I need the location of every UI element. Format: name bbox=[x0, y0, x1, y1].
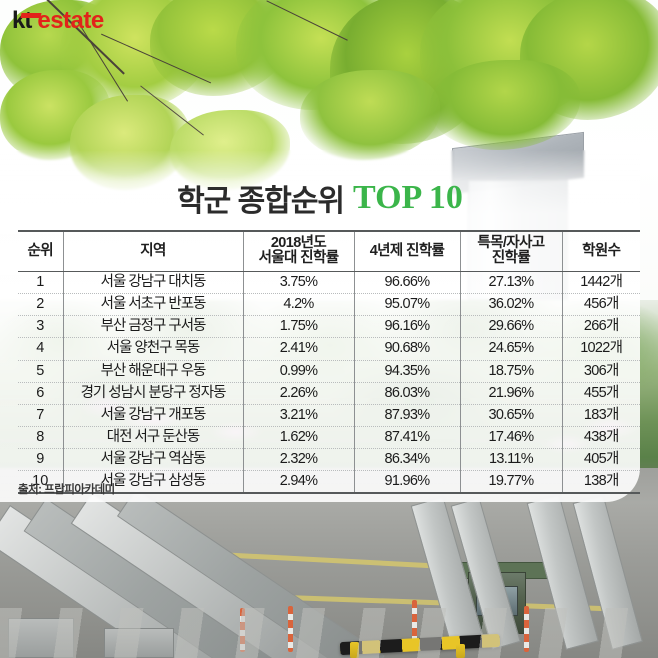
crosswalk-markings bbox=[0, 608, 658, 658]
column-header-special-rate: 특목/자사고 진학률 bbox=[460, 231, 562, 272]
column-header-4year-rate: 4년제 진학률 bbox=[354, 231, 460, 272]
table-row: 7서울 강남구 개포동3.21%87.93%30.65%183개 bbox=[18, 404, 640, 426]
snu-rate-cell: 4.2% bbox=[243, 294, 354, 316]
snu-rate-cell: 2.32% bbox=[243, 449, 354, 471]
table-row: 1서울 강남구 대치동3.75%96.66%27.13%1442개 bbox=[18, 272, 640, 294]
academy-count-cell: 266개 bbox=[562, 316, 640, 338]
rank-cell: 4 bbox=[18, 338, 63, 360]
special-rate-cell: 24.65% bbox=[460, 338, 562, 360]
univ4-rate-cell: 94.35% bbox=[354, 360, 460, 382]
column-header-academy-count: 학원수 bbox=[562, 231, 640, 272]
region-cell: 서울 양천구 목동 bbox=[63, 338, 243, 360]
column-header-special-rate-line2: 진학률 bbox=[463, 251, 560, 266]
univ4-rate-cell: 95.07% bbox=[354, 294, 460, 316]
column-header-snu-rate-line2: 서울대 진학률 bbox=[246, 251, 352, 266]
region-cell: 서울 강남구 개포동 bbox=[63, 404, 243, 426]
rankings-table: 순위 지역 2018년도 서울대 진학률 4년제 진학률 특목/자사고 진학률 … bbox=[18, 230, 640, 494]
table-row: 2서울 서초구 반포동4.2%95.07%36.02%456개 bbox=[18, 294, 640, 316]
special-rate-cell: 13.11% bbox=[460, 449, 562, 471]
rank-cell: 2 bbox=[18, 294, 63, 316]
region-cell: 부산 해운대구 우동 bbox=[63, 360, 243, 382]
column-header-snu-rate-line1: 2018년도 bbox=[246, 236, 352, 251]
rank-cell: 3 bbox=[18, 316, 63, 338]
academy-count-cell: 138개 bbox=[562, 471, 640, 494]
academy-count-cell: 456개 bbox=[562, 294, 640, 316]
table-row: 6경기 성남시 분당구 정자동2.26%86.03%21.96%455개 bbox=[18, 382, 640, 404]
snu-rate-cell: 3.21% bbox=[243, 404, 354, 426]
region-cell: 서울 강남구 대치동 bbox=[63, 272, 243, 294]
table-row: 8대전 서구 둔산동1.62%87.41%17.46%438개 bbox=[18, 426, 640, 448]
table-header: 순위 지역 2018년도 서울대 진학률 4년제 진학률 특목/자사고 진학률 … bbox=[18, 231, 640, 272]
rank-cell: 6 bbox=[18, 382, 63, 404]
table-row: 5부산 해운대구 우동0.99%94.35%18.75%306개 bbox=[18, 360, 640, 382]
special-rate-cell: 30.65% bbox=[460, 404, 562, 426]
region-cell: 대전 서구 둔산동 bbox=[63, 426, 243, 448]
rank-cell: 5 bbox=[18, 360, 63, 382]
column-header-snu-rate: 2018년도 서울대 진학률 bbox=[243, 231, 354, 272]
special-rate-cell: 17.46% bbox=[460, 426, 562, 448]
table-row: 9서울 강남구 역삼동2.32%86.34%13.11%405개 bbox=[18, 449, 640, 471]
special-rate-cell: 29.66% bbox=[460, 316, 562, 338]
rank-cell: 9 bbox=[18, 449, 63, 471]
special-rate-cell: 19.77% bbox=[460, 471, 562, 494]
table-row: 3부산 금정구 구서동1.75%96.16%29.66%266개 bbox=[18, 316, 640, 338]
academy-count-cell: 438개 bbox=[562, 426, 640, 448]
academy-count-cell: 1022개 bbox=[562, 338, 640, 360]
kt-estate-logo[interactable]: kt estate bbox=[12, 8, 104, 34]
univ4-rate-cell: 90.68% bbox=[354, 338, 460, 360]
univ4-rate-cell: 86.03% bbox=[354, 382, 460, 404]
snu-rate-cell: 0.99% bbox=[243, 360, 354, 382]
region-cell: 서울 서초구 반포동 bbox=[63, 294, 243, 316]
snu-rate-cell: 1.62% bbox=[243, 426, 354, 448]
univ4-rate-cell: 87.93% bbox=[354, 404, 460, 426]
academy-count-cell: 306개 bbox=[562, 360, 640, 382]
academy-count-cell: 1442개 bbox=[562, 272, 640, 294]
logo-kt-text: kt bbox=[12, 9, 31, 33]
special-rate-cell: 21.96% bbox=[460, 382, 562, 404]
rankings-table-container: 순위 지역 2018년도 서울대 진학률 4년제 진학률 특목/자사고 진학률 … bbox=[18, 230, 640, 494]
column-header-region: 지역 bbox=[63, 231, 243, 272]
rank-cell: 7 bbox=[18, 404, 63, 426]
region-cell: 경기 성남시 분당구 정자동 bbox=[63, 382, 243, 404]
column-header-rank: 순위 bbox=[18, 231, 63, 272]
univ4-rate-cell: 96.66% bbox=[354, 272, 460, 294]
source-attribution: 출처: 프랍피아카데미 bbox=[18, 481, 115, 497]
table-body: 1서울 강남구 대치동3.75%96.66%27.13%1442개2서울 서초구… bbox=[18, 272, 640, 494]
snu-rate-cell: 2.41% bbox=[243, 338, 354, 360]
rank-cell: 8 bbox=[18, 426, 63, 448]
column-header-special-rate-line1: 특목/자사고 bbox=[463, 236, 560, 251]
special-rate-cell: 36.02% bbox=[460, 294, 562, 316]
rank-cell: 1 bbox=[18, 272, 63, 294]
page-title: 학군 종합순위TOP 10 bbox=[0, 176, 640, 220]
special-rate-cell: 18.75% bbox=[460, 360, 562, 382]
table-row: 4서울 양천구 목동2.41%90.68%24.65%1022개 bbox=[18, 338, 640, 360]
logo-estate-text: estate bbox=[37, 9, 103, 33]
univ4-rate-cell: 86.34% bbox=[354, 449, 460, 471]
snu-rate-cell: 2.26% bbox=[243, 382, 354, 404]
snu-rate-cell: 3.75% bbox=[243, 272, 354, 294]
univ4-rate-cell: 96.16% bbox=[354, 316, 460, 338]
title-top10-text: TOP 10 bbox=[353, 179, 463, 216]
region-cell: 부산 금정구 구서동 bbox=[63, 316, 243, 338]
title-korean-text: 학군 종합순위 bbox=[177, 185, 344, 218]
univ4-rate-cell: 91.96% bbox=[354, 471, 460, 494]
academy-count-cell: 183개 bbox=[562, 404, 640, 426]
snu-rate-cell: 1.75% bbox=[243, 316, 354, 338]
academy-count-cell: 405개 bbox=[562, 449, 640, 471]
univ4-rate-cell: 87.41% bbox=[354, 426, 460, 448]
region-cell: 서울 강남구 역삼동 bbox=[63, 449, 243, 471]
snu-rate-cell: 2.94% bbox=[243, 471, 354, 494]
academy-count-cell: 455개 bbox=[562, 382, 640, 404]
table-header-row: 순위 지역 2018년도 서울대 진학률 4년제 진학률 특목/자사고 진학률 … bbox=[18, 231, 640, 272]
special-rate-cell: 27.13% bbox=[460, 272, 562, 294]
